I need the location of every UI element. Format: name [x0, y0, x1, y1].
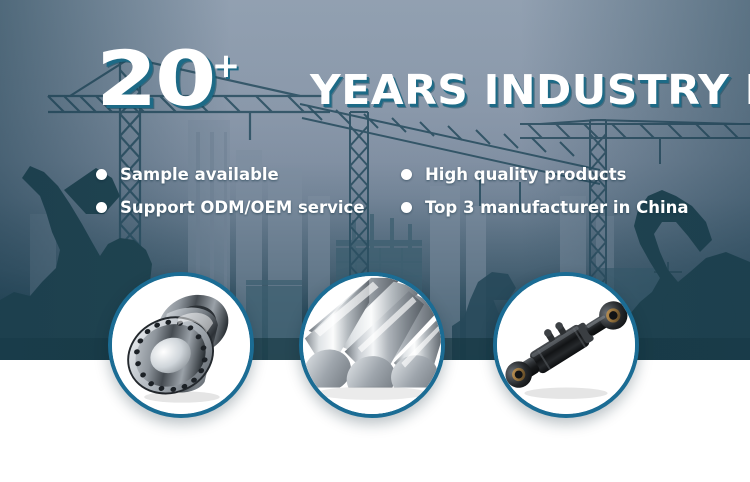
list-item: Top 3 manufacturer in China: [401, 191, 706, 224]
product-circle-steel-flange: [108, 272, 254, 418]
steel-flange-image: [112, 276, 250, 414]
list-item-label: Top 3 manufacturer in China: [425, 198, 688, 217]
promo-banner: 20 + YEARS INDUSTRY EXPERIENCE Sample av…: [0, 0, 750, 482]
product-circle-hydraulic-cylinder: [493, 272, 639, 418]
list-item: Sample available: [96, 158, 401, 191]
steel-round-bars-image: [303, 276, 441, 414]
feature-bullets-right-column: High quality products Top 3 manufacturer…: [401, 158, 706, 224]
headline: 20 + YEARS INDUSTRY EXPERIENCE: [96, 44, 736, 122]
years-count-group: 20 +: [96, 44, 240, 114]
bullet-dot-icon: [96, 202, 107, 213]
headline-text: YEARS INDUSTRY EXPERIENCE: [310, 66, 750, 114]
feature-bullets: Sample available Support ODM/OEM service…: [96, 158, 716, 224]
list-item-label: High quality products: [425, 165, 627, 184]
bullet-dot-icon: [401, 202, 412, 213]
years-count-number: 20: [96, 44, 214, 114]
years-count-plus: +: [212, 46, 241, 86]
bullet-dot-icon: [96, 169, 107, 180]
list-item-label: Sample available: [120, 165, 279, 184]
product-circle-steel-bars: [299, 272, 445, 418]
bullet-dot-icon: [401, 169, 412, 180]
feature-bullets-left-column: Sample available Support ODM/OEM service: [96, 158, 401, 224]
list-item: High quality products: [401, 158, 706, 191]
hydraulic-cylinder-image: [497, 276, 635, 414]
list-item: Support ODM/OEM service: [96, 191, 401, 224]
list-item-label: Support ODM/OEM service: [120, 198, 365, 217]
